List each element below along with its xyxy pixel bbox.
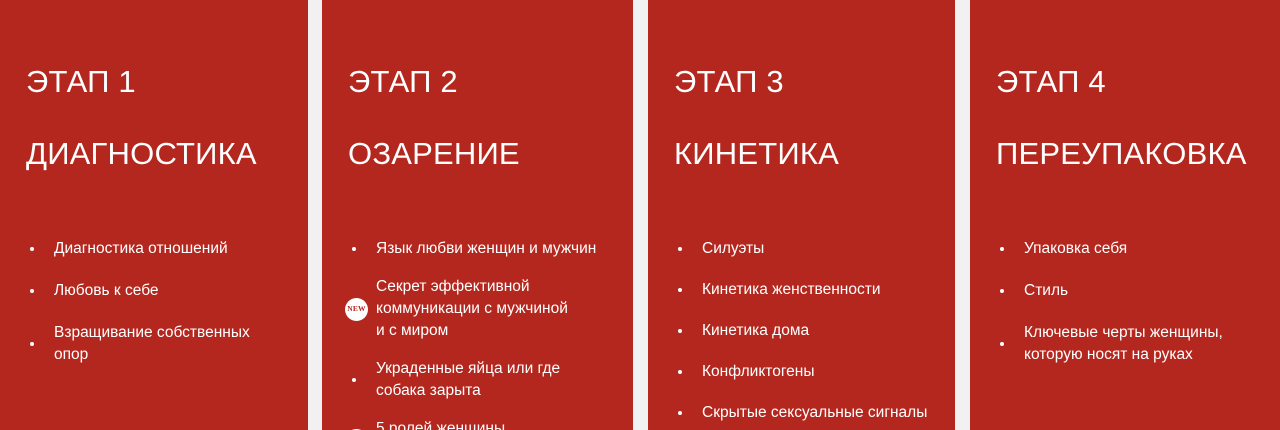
bullet-marker — [996, 342, 1024, 346]
list-item-label: 5 ролей женщины в отношениях — [376, 418, 617, 430]
new-badge-icon: NEW — [345, 298, 368, 321]
bullet-marker — [674, 370, 702, 374]
bullet-dot-icon — [1000, 289, 1004, 293]
stage-title-2: ЭТАП 2 ОЗАРЕНИЕ — [348, 28, 617, 208]
list-item-label: Ключевые черты женщины, которую носят на… — [1024, 322, 1266, 366]
bullet-marker — [674, 247, 702, 251]
list-item-label: Украденные яйца или где собака зарыта — [376, 358, 617, 402]
bullet-dot-icon — [30, 289, 34, 293]
card-gap — [308, 0, 322, 430]
bullet-marker — [996, 247, 1024, 251]
stage-card-1: ЭТАП 1 ДИАГНОСТИКА Диагностика отношений… — [0, 0, 308, 430]
bullet-marker — [996, 289, 1024, 293]
list-item: Любовь к себе — [26, 280, 284, 302]
list-item-label: Секрет эффективной коммуникации с мужчин… — [376, 276, 617, 342]
list-item: Силуэты — [674, 238, 941, 260]
stage-title-line-1: ЭТАП 3 — [674, 64, 941, 100]
list-item-label: Любовь к себе — [54, 280, 284, 302]
stages-board: ЭТАП 1 ДИАГНОСТИКА Диагностика отношений… — [0, 0, 1280, 430]
bullet-marker: NEW — [348, 298, 376, 321]
card-gap — [633, 0, 648, 430]
list-item-label: Взращивание собственных опор — [54, 322, 284, 366]
stage-card-3: ЭТАП 3 КИНЕТИКА Силуэты Кинетика женстве… — [648, 0, 955, 430]
list-item-label: Диагностика отношений — [54, 238, 284, 260]
bullet-marker — [26, 289, 54, 293]
bullet-marker — [26, 247, 54, 251]
bullet-marker — [674, 411, 702, 415]
bullet-dot-icon — [30, 342, 34, 346]
bullet-marker — [674, 329, 702, 333]
stage-title-line-1: ЭТАП 1 — [26, 64, 284, 100]
stage-title-line-1: ЭТАП 2 — [348, 64, 617, 100]
stage-title-line-2: ОЗАРЕНИЕ — [348, 136, 617, 172]
stage-title-1: ЭТАП 1 ДИАГНОСТИКА — [26, 28, 284, 208]
list-item-label: Язык любви женщин и мужчин — [376, 238, 617, 260]
bullet-dot-icon — [352, 247, 356, 251]
bullet-dot-icon — [678, 411, 682, 415]
list-item: Украденные яйца или где собака зарыта — [348, 358, 617, 402]
stage-item-list-3: Силуэты Кинетика женственности Кинетика … — [674, 238, 941, 424]
list-item-label: Скрытые сексуальные сигналы — [702, 402, 941, 424]
bullet-dot-icon — [678, 247, 682, 251]
bullet-dot-icon — [678, 329, 682, 333]
stage-title-line-2: ДИАГНОСТИКА — [26, 136, 284, 172]
list-item-label: Конфликтогены — [702, 361, 941, 383]
stage-item-list-4: Упаковка себя Стиль Ключевые черты женщи… — [996, 238, 1266, 366]
stage-title-3: ЭТАП 3 КИНЕТИКА — [674, 28, 941, 208]
list-item-label: Силуэты — [702, 238, 941, 260]
bullet-marker — [348, 247, 376, 251]
list-item-label: Кинетика женственности — [702, 279, 941, 301]
list-item: Кинетика женственности — [674, 279, 941, 301]
list-item: Диагностика отношений — [26, 238, 284, 260]
stage-title-line-2: КИНЕТИКА — [674, 136, 941, 172]
bullet-dot-icon — [30, 247, 34, 251]
bullet-dot-icon — [352, 378, 356, 382]
list-item: Конфликтогены — [674, 361, 941, 383]
list-item: NEW 5 ролей женщины в отношениях — [348, 418, 617, 430]
stage-card-4: ЭТАП 4 ПЕРЕУПАКОВКА Упаковка себя Стиль … — [970, 0, 1280, 430]
stage-item-list-1: Диагностика отношений Любовь к себе Взра… — [26, 238, 284, 366]
list-item-label: Кинетика дома — [702, 320, 941, 342]
bullet-dot-icon — [678, 288, 682, 292]
stage-card-2: ЭТАП 2 ОЗАРЕНИЕ Язык любви женщин и мужч… — [322, 0, 633, 430]
list-item: Ключевые черты женщины, которую носят на… — [996, 322, 1266, 366]
bullet-dot-icon — [1000, 247, 1004, 251]
bullet-marker — [674, 288, 702, 292]
card-gap — [955, 0, 970, 430]
stage-title-line-2: ПЕРЕУПАКОВКА — [996, 136, 1266, 172]
bullet-marker — [348, 378, 376, 382]
list-item: Язык любви женщин и мужчин — [348, 238, 617, 260]
list-item: Взращивание собственных опор — [26, 322, 284, 366]
stage-title-line-1: ЭТАП 4 — [996, 64, 1266, 100]
list-item: Кинетика дома — [674, 320, 941, 342]
list-item-label: Упаковка себя — [1024, 238, 1266, 260]
bullet-dot-icon — [1000, 342, 1004, 346]
stage-title-4: ЭТАП 4 ПЕРЕУПАКОВКА — [996, 28, 1266, 208]
stage-item-list-2: Язык любви женщин и мужчин NEW Секрет эф… — [348, 238, 617, 430]
list-item: Упаковка себя — [996, 238, 1266, 260]
list-item: Скрытые сексуальные сигналы — [674, 402, 941, 424]
list-item-label: Стиль — [1024, 280, 1266, 302]
list-item: NEW Секрет эффективной коммуникации с му… — [348, 276, 617, 342]
list-item: Стиль — [996, 280, 1266, 302]
bullet-dot-icon — [678, 370, 682, 374]
bullet-marker — [26, 342, 54, 346]
